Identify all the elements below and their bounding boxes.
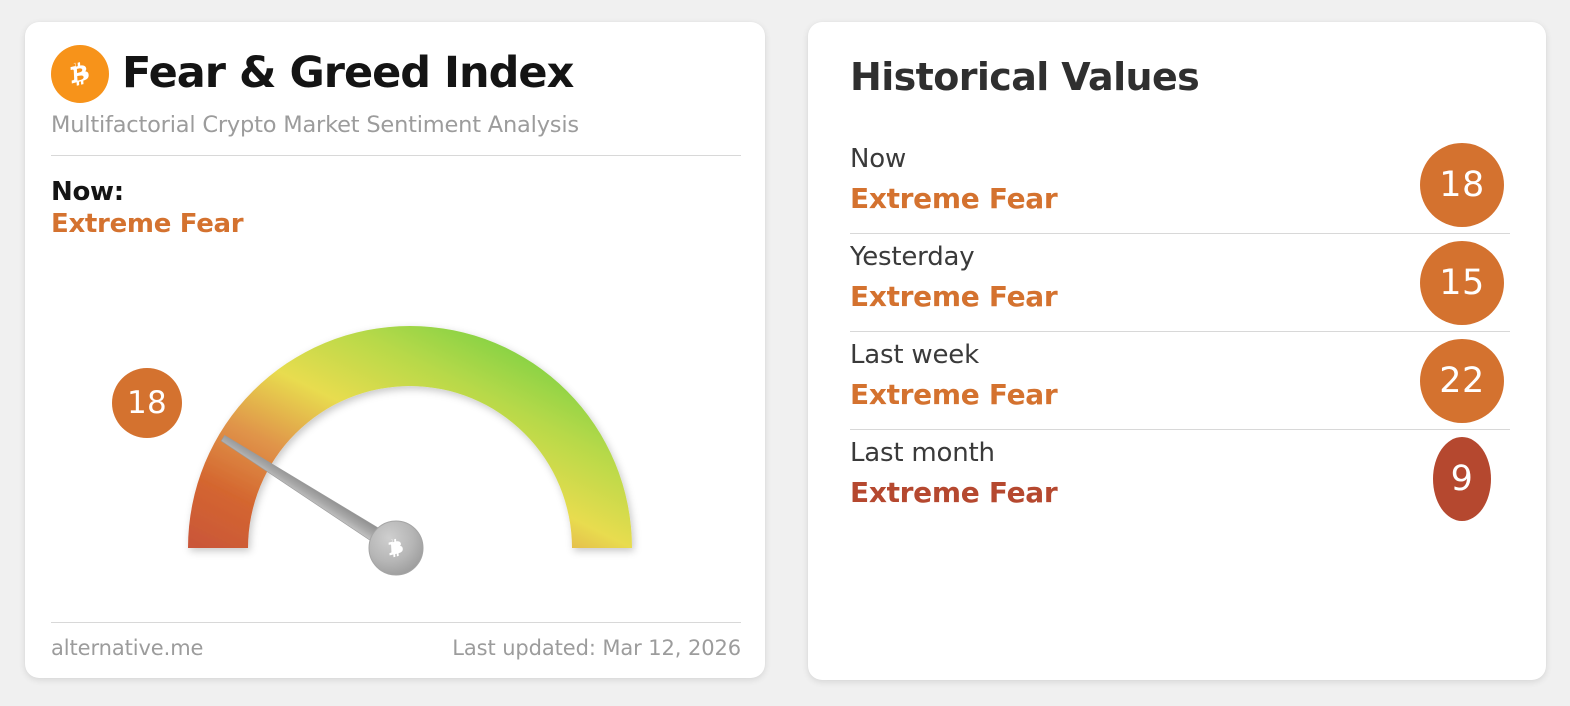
now-label: Now: <box>51 177 741 209</box>
historical-values-list: Now Extreme Fear 18 Yesterday Extreme Fe… <box>850 136 1510 528</box>
gauge-card-footer: alternative.me Last updated: Mar 12, 202… <box>51 622 741 660</box>
list-item: Now Extreme Fear 18 <box>850 136 1510 234</box>
history-value-badge: 9 <box>1433 437 1491 521</box>
historical-values-title: Historical Values <box>850 58 1510 96</box>
page-root: Fear & Greed Index Multifactorial Crypto… <box>0 0 1570 706</box>
historical-card-content: Historical Values Now Extreme Fear 18 Ye… <box>850 58 1510 660</box>
history-value-badge: 15 <box>1420 241 1504 325</box>
footer-divider <box>51 622 741 623</box>
gauge-value-badge: 18 <box>112 368 182 438</box>
last-updated-label: Last updated: Mar 12, 2026 <box>452 636 741 660</box>
gauge-band <box>188 326 632 548</box>
history-period-label: Last month <box>850 430 1510 469</box>
history-value-badge: 18 <box>1420 143 1504 227</box>
history-classification: Extreme Fear <box>850 182 1510 216</box>
gauge-visualization: 18 <box>51 248 741 608</box>
gauge-arc-svg <box>96 248 696 608</box>
page-title: Fear & Greed Index <box>122 52 573 95</box>
history-classification: Extreme Fear <box>850 476 1510 510</box>
history-value-badge: 22 <box>1420 339 1504 423</box>
history-period-label: Last week <box>850 332 1510 371</box>
gauge-card-subtitle: Multifactorial Crypto Market Sentiment A… <box>51 113 741 138</box>
header-divider <box>51 155 741 156</box>
source-label: alternative.me <box>51 636 203 660</box>
fear-greed-gauge-card: Fear & Greed Index Multifactorial Crypto… <box>25 22 765 678</box>
history-classification: Extreme Fear <box>850 378 1510 412</box>
bitcoin-icon <box>51 45 109 103</box>
historical-values-card: Historical Values Now Extreme Fear 18 Ye… <box>808 22 1546 680</box>
list-item: Yesterday Extreme Fear 15 <box>850 234 1510 332</box>
history-period-label: Yesterday <box>850 234 1510 273</box>
history-period-label: Now <box>850 136 1510 175</box>
history-classification: Extreme Fear <box>850 280 1510 314</box>
list-item: Last week Extreme Fear 22 <box>850 332 1510 430</box>
gauge-card-header: Fear & Greed Index <box>51 44 741 104</box>
current-value-block: Now: Extreme Fear <box>51 177 741 242</box>
gauge-card-content: Fear & Greed Index Multifactorial Crypto… <box>51 44 741 660</box>
now-classification: Extreme Fear <box>51 208 741 241</box>
list-item: Last month Extreme Fear 9 <box>850 430 1510 528</box>
